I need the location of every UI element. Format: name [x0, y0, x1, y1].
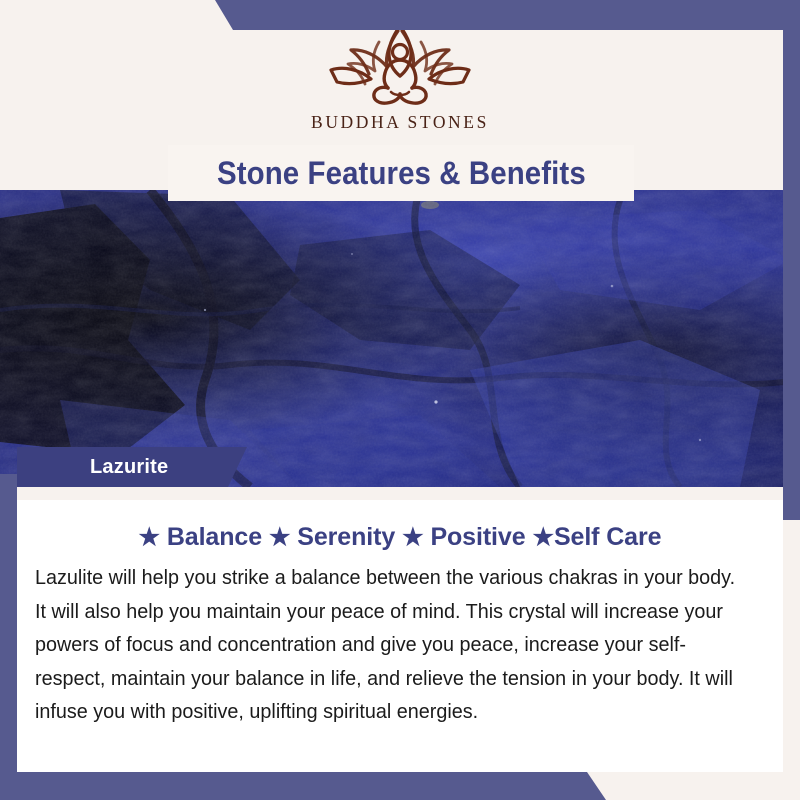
benefit-item-3: ★Self Care — [533, 523, 662, 551]
stone-name-label: Lazurite — [90, 456, 168, 479]
stone-description-text: Lazulite will help you strike a balance … — [35, 561, 739, 729]
brand-name: BUDDHA STONES — [311, 112, 489, 133]
lotus-meditation-icon — [315, 22, 485, 106]
star-icon: ★ — [139, 524, 160, 551]
benefit-item-0: ★ Balance — [139, 523, 262, 551]
stone-texture-illustration — [0, 190, 800, 487]
frame-accent-right — [783, 0, 800, 800]
frame-accent-bottom — [0, 772, 800, 800]
benefit-item-2: ★ Positive — [402, 523, 525, 551]
stone-info-card: BUDDHA STONES Stone Features & Benefits … — [0, 0, 800, 800]
benefit-label-3: Self Care — [554, 523, 662, 551]
brand-logo: BUDDHA STONES — [0, 22, 800, 133]
star-icon: ★ — [533, 524, 554, 551]
star-icon: ★ — [402, 524, 423, 551]
description-panel: ★ Balance★ Serenity★ Positive★Self Care … — [17, 487, 783, 772]
benefit-label-1: Serenity — [297, 523, 395, 551]
title-banner: Stone Features & Benefits — [168, 145, 634, 201]
lazurite-stone-photo — [0, 190, 800, 487]
star-icon: ★ — [269, 524, 290, 551]
benefits-list: ★ Balance★ Serenity★ Positive★Self Care — [17, 523, 783, 552]
benefit-label-2: Positive — [430, 523, 525, 551]
benefit-label-0: Balance — [167, 523, 262, 551]
benefit-item-1: ★ Serenity — [269, 523, 395, 551]
panel-top-strip — [17, 487, 783, 500]
stone-name-banner: Lazurite — [17, 447, 247, 487]
page-title: Stone Features & Benefits — [217, 155, 586, 192]
